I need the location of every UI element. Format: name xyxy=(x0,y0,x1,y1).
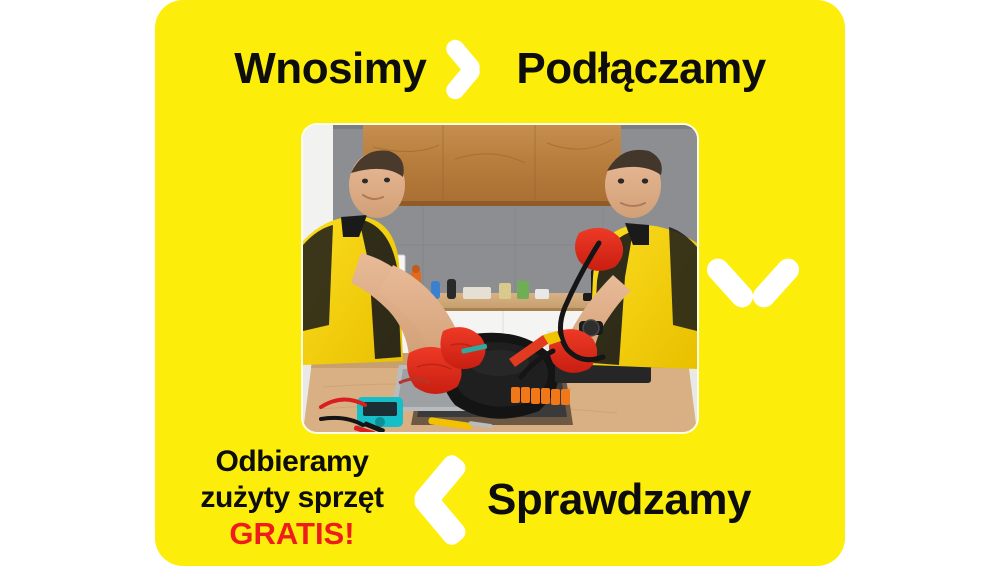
step-label-podlaczamy: Podłączamy xyxy=(516,47,765,91)
bottom-step-row: Odbieramy zużyty sprzęt GRATIS! Sprawdza… xyxy=(155,440,845,566)
offer-line-2: zużyty sprzęt xyxy=(179,480,405,516)
installation-photo xyxy=(303,125,697,432)
offer-line-1: Odbieramy xyxy=(179,444,405,480)
chevron-down-icon xyxy=(707,252,801,314)
chevron-left-icon xyxy=(417,452,479,553)
step-label-wnosimy: Wnosimy xyxy=(234,47,426,91)
offer-free-badge: GRATIS! xyxy=(179,516,405,552)
free-pickup-offer: Odbieramy zużyty sprzęt GRATIS! xyxy=(179,444,405,552)
banner-root: Wnosimy Podłączamy xyxy=(0,0,1000,581)
yellow-card: Wnosimy Podłączamy xyxy=(155,0,845,566)
top-step-row: Wnosimy Podłączamy xyxy=(155,38,845,100)
step-label-sprawdzamy: Sprawdzamy xyxy=(487,478,751,522)
chevron-right-icon xyxy=(448,36,494,102)
photo-artwork xyxy=(303,125,697,432)
